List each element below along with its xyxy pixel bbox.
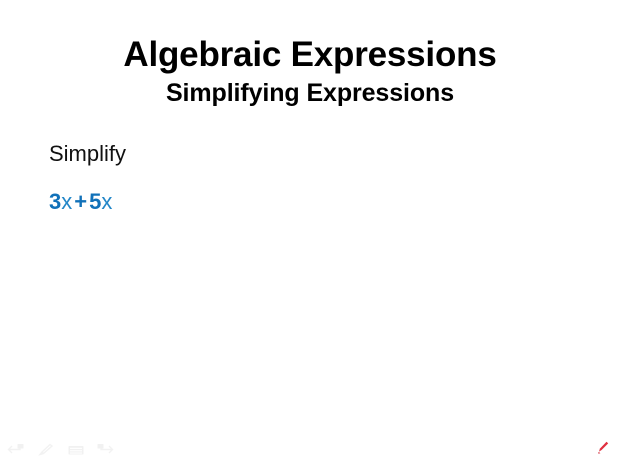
expression-line: 3x+5x: [49, 168, 589, 216]
slide-title-block: Algebraic Expressions Simplifying Expres…: [0, 34, 620, 109]
slideshow-controls: [6, 442, 115, 458]
expression-term2-coefficient: 5: [89, 189, 101, 214]
expression-term1-variable: x: [61, 189, 72, 214]
page-subtitle: Simplifying Expressions: [0, 76, 620, 109]
instruction-text: Simplify: [49, 140, 589, 168]
slide-body: Simplify 3x+5x: [49, 140, 589, 216]
expression-term1-coefficient: 3: [49, 189, 61, 214]
previous-slide-icon[interactable]: [6, 442, 25, 458]
pen-tool-icon[interactable]: [36, 442, 55, 458]
expression-operator: +: [72, 189, 89, 214]
pen-cursor-icon: [597, 441, 609, 454]
slide-menu-icon[interactable]: [66, 442, 85, 458]
next-slide-icon[interactable]: [96, 442, 115, 458]
presentation-slide: Algebraic Expressions Simplifying Expres…: [0, 0, 620, 464]
page-title: Algebraic Expressions: [0, 34, 620, 76]
expression-term2-variable: x: [101, 189, 112, 214]
